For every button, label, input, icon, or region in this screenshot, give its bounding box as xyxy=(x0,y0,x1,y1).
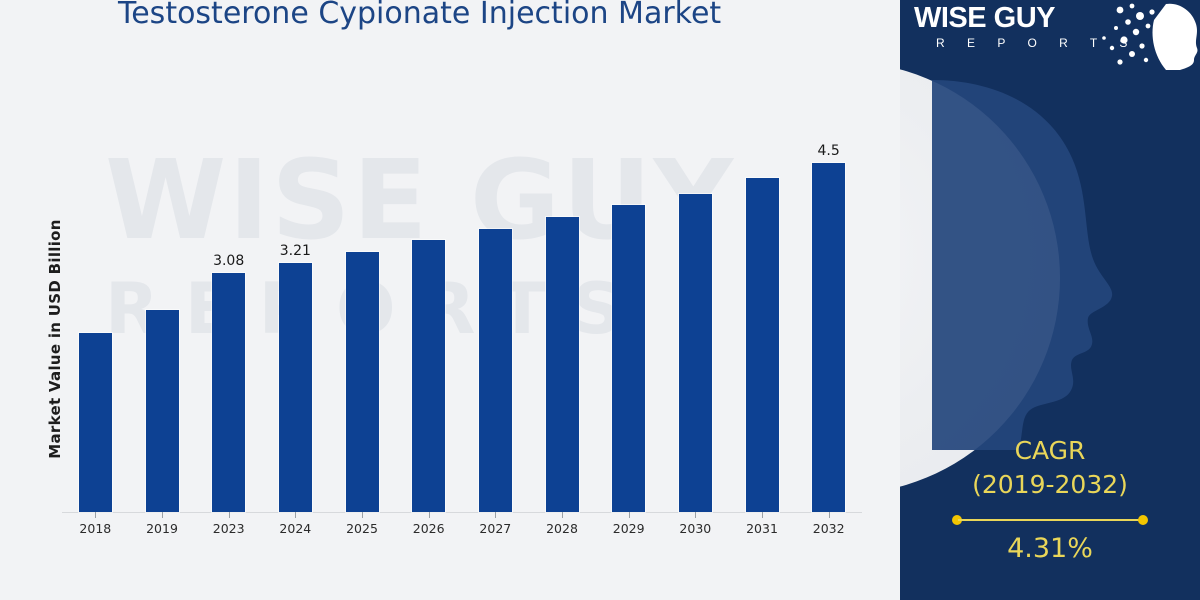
chart-panel: WISE GUY REPORTS Testosterone Cypionate … xyxy=(0,0,900,600)
x-tick-label-2027: 2027 xyxy=(465,521,525,536)
bar-rect-2027[interactable] xyxy=(479,229,512,512)
x-tick-label-2032: 2032 xyxy=(799,521,859,536)
plot-area: 3.083.214.5 xyxy=(62,120,862,512)
bar-rect-2032[interactable] xyxy=(812,163,845,512)
bar-2019[interactable] xyxy=(146,120,179,512)
x-tick-2026 xyxy=(429,512,430,518)
bar-2026[interactable] xyxy=(412,120,445,512)
x-axis-line xyxy=(62,512,862,513)
bar-rect-2018[interactable] xyxy=(79,333,112,512)
cagr-range: (2019-2032) xyxy=(900,468,1200,502)
x-tick-label-2019: 2019 xyxy=(132,521,192,536)
poster-root: WISE GUY REPORTS Testosterone Cypionate … xyxy=(0,0,1200,600)
x-tick-2025 xyxy=(362,512,363,518)
x-tick-label-2025: 2025 xyxy=(332,521,392,536)
x-tick-2027 xyxy=(495,512,496,518)
x-tick-2018 xyxy=(95,512,96,518)
x-tick-2028 xyxy=(562,512,563,518)
bar-rect-2029[interactable] xyxy=(612,205,645,512)
cagr-label: CAGR xyxy=(900,434,1200,468)
cagr-divider xyxy=(952,514,1148,526)
x-tick-2019 xyxy=(162,512,163,518)
x-tick-2029 xyxy=(629,512,630,518)
x-tick-label-2030: 2030 xyxy=(665,521,725,536)
x-tick-label-2031: 2031 xyxy=(732,521,792,536)
x-tick-label-2029: 2029 xyxy=(599,521,659,536)
bar-2031[interactable] xyxy=(746,120,779,512)
bar-2028[interactable] xyxy=(546,120,579,512)
bar-rect-2024[interactable] xyxy=(279,263,312,512)
cagr-divider-line xyxy=(958,519,1142,521)
cagr-value: 4.31% xyxy=(900,532,1200,566)
x-tick-label-2018: 2018 xyxy=(65,521,125,536)
bar-2025[interactable] xyxy=(346,120,379,512)
bar-value-label-2024: 3.21 xyxy=(280,243,311,259)
x-tick-label-2026: 2026 xyxy=(399,521,459,536)
x-tick-label-2023: 2023 xyxy=(199,521,259,536)
bar-rect-2031[interactable] xyxy=(746,178,779,512)
x-tick-2032 xyxy=(829,512,830,518)
x-tick-2023 xyxy=(229,512,230,518)
bar-value-label-2023: 3.08 xyxy=(213,253,244,269)
bar-value-label-2032: 4.5 xyxy=(818,143,840,159)
x-tick-label-2028: 2028 xyxy=(532,521,592,536)
bar-rect-2030[interactable] xyxy=(679,194,712,512)
bar-rect-2019[interactable] xyxy=(146,310,179,512)
cagr-block: CAGR (2019-2032) 4.31% xyxy=(900,434,1200,566)
x-tick-label-2024: 2024 xyxy=(265,521,325,536)
bar-2023[interactable]: 3.08 xyxy=(212,120,245,512)
bar-rect-2026[interactable] xyxy=(412,240,445,512)
bar-rect-2025[interactable] xyxy=(346,252,379,512)
x-tick-2030 xyxy=(695,512,696,518)
brand-panel: WISE GUY R E P O R T S CAGR (2019-2032) xyxy=(900,0,1200,600)
bar-2029[interactable] xyxy=(612,120,645,512)
logo-head-dots-icon xyxy=(1074,0,1200,74)
bar-2032[interactable]: 4.5 xyxy=(812,120,845,512)
x-tick-2024 xyxy=(295,512,296,518)
page-title: Testosterone Cypionate Injection Market xyxy=(118,0,778,34)
bar-2018[interactable] xyxy=(79,120,112,512)
bar-2024[interactable]: 3.21 xyxy=(279,120,312,512)
bar-2030[interactable] xyxy=(679,120,712,512)
bar-rect-2023[interactable] xyxy=(212,273,245,512)
cagr-divider-dot-right xyxy=(1138,515,1148,525)
x-tick-2031 xyxy=(762,512,763,518)
bar-2027[interactable] xyxy=(479,120,512,512)
brand-logo: WISE GUY R E P O R T S xyxy=(914,2,1186,72)
head-profile-icon xyxy=(922,80,1142,450)
bar-rect-2028[interactable] xyxy=(546,217,579,512)
